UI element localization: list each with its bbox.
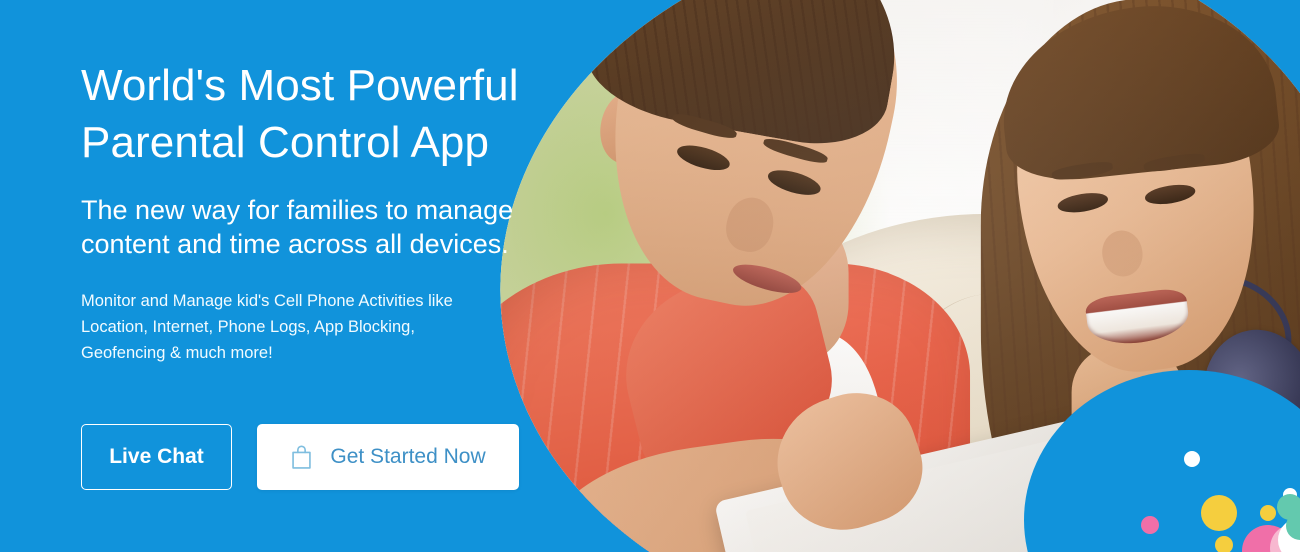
decor-dot: [1215, 536, 1233, 552]
page-title: World's Most Powerful Parental Control A…: [81, 57, 641, 171]
shopping-bag-icon: [290, 444, 313, 470]
hero-banner: World's Most Powerful Parental Control A…: [0, 0, 1300, 552]
hero-description: Monitor and Manage kid's Cell Phone Acti…: [81, 288, 641, 366]
hero-content: World's Most Powerful Parental Control A…: [81, 0, 641, 552]
decor-dot: [1141, 516, 1159, 534]
decor-dot: [1201, 495, 1237, 531]
decor-dot: [1184, 451, 1200, 467]
decor-dot: [1260, 505, 1276, 521]
live-chat-button[interactable]: Live Chat: [81, 424, 232, 490]
cta-button-row: Live Chat Get Started Now: [81, 424, 519, 490]
get-started-label: Get Started Now: [330, 445, 485, 469]
hero-subheadline: The new way for families to manage conte…: [81, 193, 641, 261]
get-started-button[interactable]: Get Started Now: [257, 424, 519, 490]
